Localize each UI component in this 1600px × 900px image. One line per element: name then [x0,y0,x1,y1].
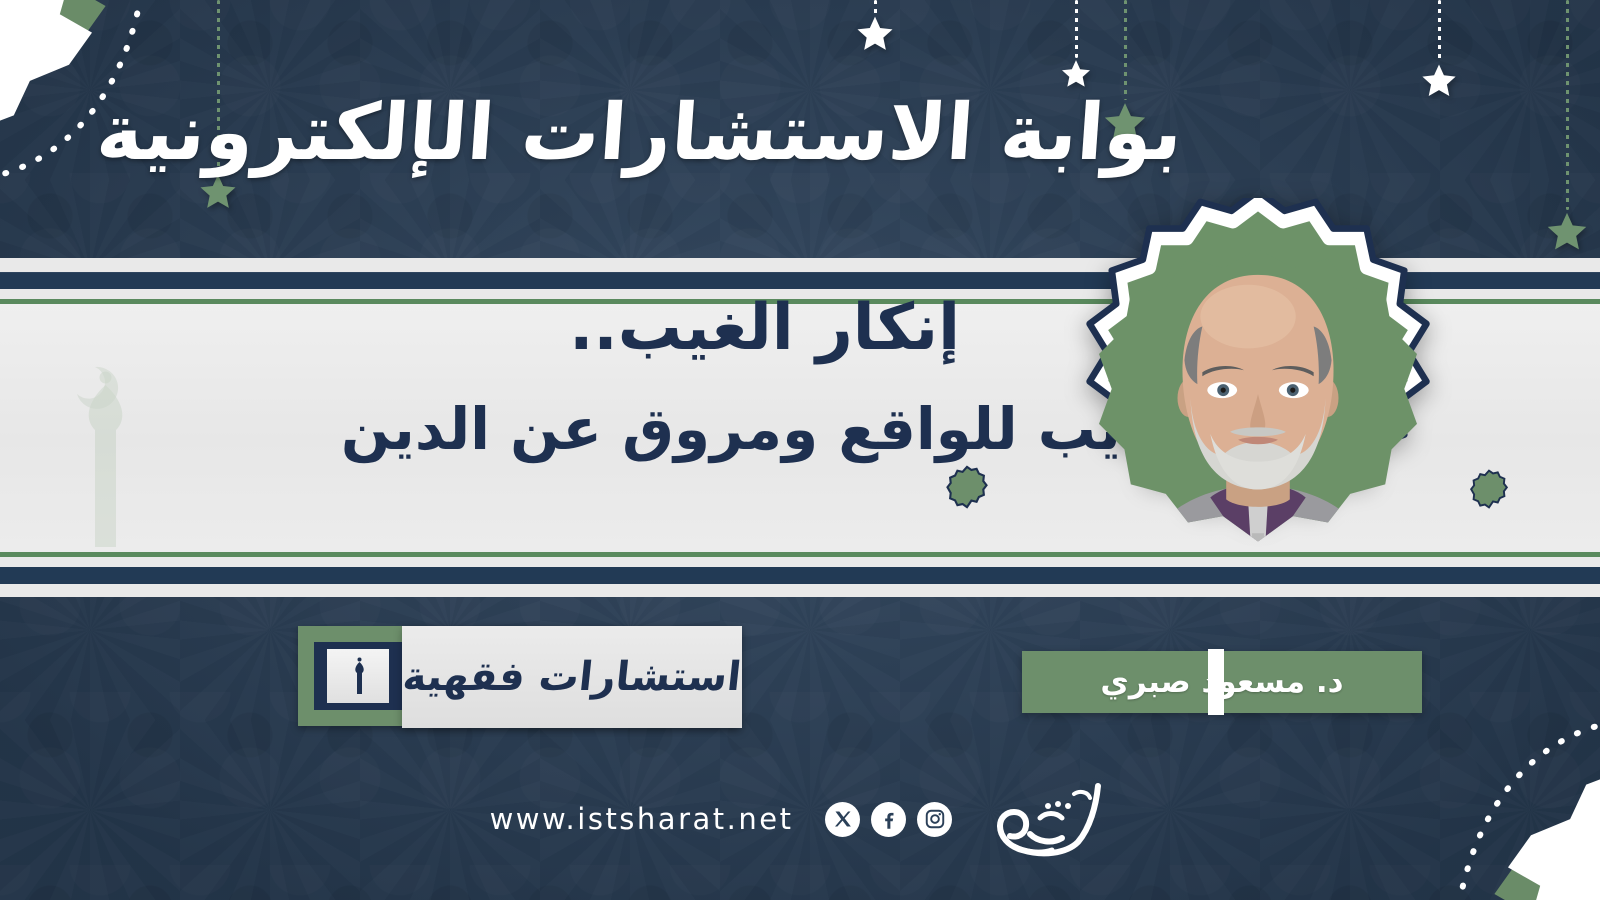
speaker-portrait [1048,198,1468,618]
star-thread [1075,0,1078,58]
badge-navy-box [314,642,402,710]
x-glyph [833,809,853,829]
star-thread [874,0,877,14]
rosette-ornament-left [944,464,990,510]
title-line-1: إنكار الغيب.. [280,288,960,370]
rosette-ornament-right [1468,468,1510,510]
star-icon [1060,58,1092,90]
hanging-star-6 [1545,0,1589,254]
hanging-star-3 [1060,0,1092,90]
star-icon [198,172,238,212]
star-icon [1420,62,1458,100]
instagram-glyph [924,808,946,830]
poster-canvas: بوابة الاستشارات الإلكترونية [0,0,1600,900]
mosque-crescent-icon [341,656,375,696]
star-thread [1566,0,1569,210]
star-icon [855,14,895,54]
al-mujtama-logo-icon [978,780,1110,858]
brand-calligraphy-text: بوابة الاستشارات الإلكترونية [94,88,1185,178]
star-thread [1438,0,1441,62]
hanging-star-2 [855,0,895,54]
facebook-glyph [878,808,900,830]
hanging-star-5 [1420,0,1458,100]
mosque-crescent-watermark-icon [12,352,202,552]
instagram-icon[interactable] [917,802,952,837]
star-icon [1545,210,1589,254]
facebook-icon[interactable] [871,802,906,837]
footer-logo [978,780,1110,858]
brand-calligraphy: بوابة الاستشارات الإلكترونية [280,58,1000,208]
website-url[interactable]: www.istsharat.net [490,802,794,836]
star-thread [1124,0,1127,100]
social-links [825,802,952,837]
badge-white-plate: استشارات فقهية [402,626,742,728]
article-title: إنكار الغيب.. تكذيب للواقع ومروق عن الدي… [280,288,960,466]
author-bar-accent-tick [1208,649,1224,715]
footer: www.istsharat.net [0,780,1600,858]
badge-logo-square [327,649,389,703]
x-icon[interactable] [825,802,860,837]
badge-calligraphy-text: استشارات فقهية [401,654,744,700]
